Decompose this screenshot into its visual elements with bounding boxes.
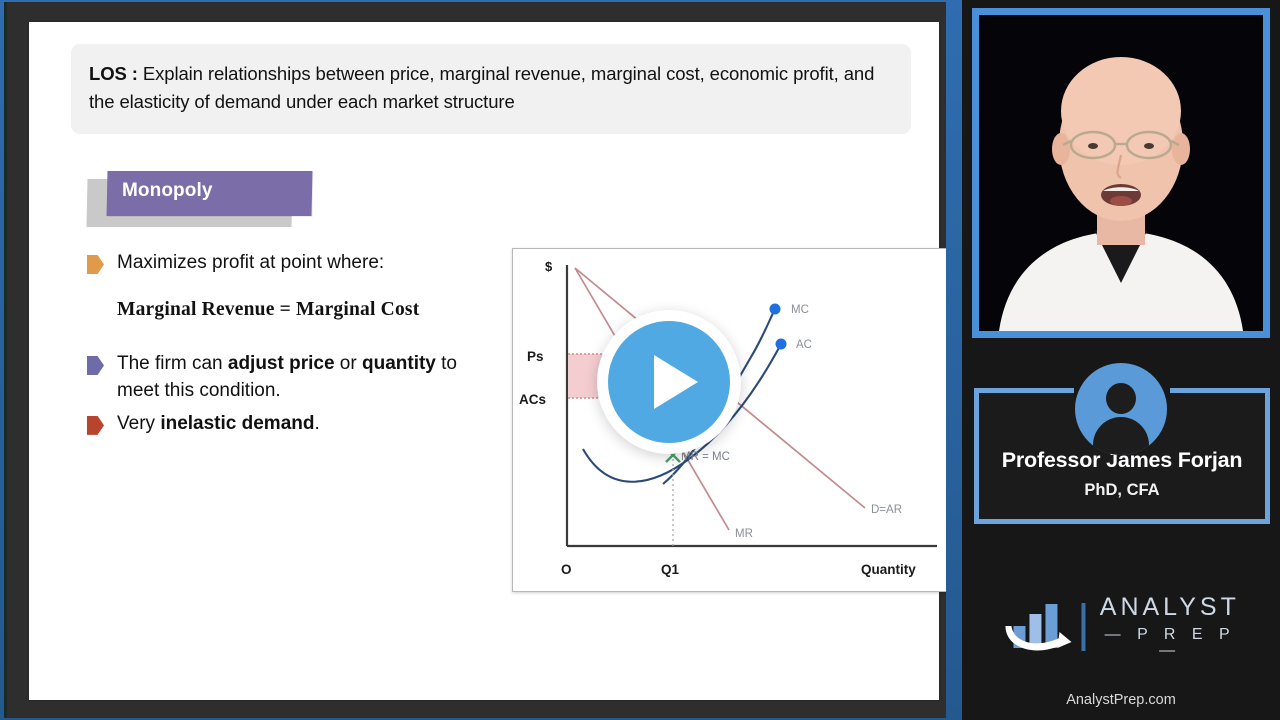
learning-objective-text: LOS : Explain relationships between pric… xyxy=(89,60,893,116)
los-prefix: LOS : xyxy=(89,63,138,84)
brand-website: AnalystPrep.com xyxy=(962,692,1280,708)
chart-label-demand: D=AR xyxy=(871,504,902,516)
avatar-body xyxy=(1093,417,1149,455)
logo-divider xyxy=(1081,603,1085,651)
section-title-banner: Monopoly xyxy=(87,169,317,231)
chart-label-ac: AC xyxy=(796,339,812,351)
slide-edge-accent xyxy=(946,0,962,720)
chart-label-mr-equals-mc: MR = MC xyxy=(681,451,730,463)
bullet-list: Maximizes profit at point where: Margina… xyxy=(87,250,487,438)
play-triangle-icon xyxy=(654,355,698,409)
monopoly-chart-svg: $ Ps ACs O Q1 Quantity MC AC D=AR MR MR … xyxy=(513,249,960,591)
equation-line: Marginal Revenue = Marginal Cost xyxy=(117,299,487,321)
mc-endpoint-dot-icon xyxy=(770,304,781,315)
chart-x-axis-label: Quantity xyxy=(861,562,916,577)
ac-endpoint-dot-icon xyxy=(776,339,787,350)
chart-ytick-acs: ACs xyxy=(519,392,546,407)
bullet3-tail: . xyxy=(314,413,319,434)
presenter-video-feed xyxy=(979,15,1263,331)
bullet-marker-orange-icon xyxy=(87,255,104,274)
presenter-video[interactable] xyxy=(972,8,1270,338)
chart-origin-label: O xyxy=(561,562,572,577)
chart-ytick-ps: Ps xyxy=(527,349,544,364)
presenter-rail: Professor James Forjan PhD, CFA xyxy=(962,0,1280,720)
logo-prep-text: — P R E P — xyxy=(1100,627,1241,659)
logo-wordmark: ANALYST — P R E P — xyxy=(1100,595,1241,659)
bullet-text-2: The firm can adjust price or quantity to… xyxy=(117,351,487,405)
bullet2-mid: or xyxy=(335,353,362,374)
avatar-head xyxy=(1106,383,1136,414)
bullet-marker-purple-icon xyxy=(87,356,104,375)
bullet-marker-red-icon xyxy=(87,416,104,435)
chart-y-axis-label: $ xyxy=(545,259,553,274)
slide-stage: LOS : Explain relationships between pric… xyxy=(0,0,962,720)
brand-logo: ANALYST — P R E P — xyxy=(962,595,1280,665)
bullet-item-2: The firm can adjust price or quantity to… xyxy=(87,351,487,405)
bullet3-lead: Very xyxy=(117,413,160,434)
slide-frame: LOS : Explain relationships between pric… xyxy=(4,2,948,718)
bullet-text-1: Maximizes profit at point where: xyxy=(117,250,384,277)
bar-chart-swoosh-icon xyxy=(1001,596,1075,658)
bullet-item-3: Very inelastic demand. xyxy=(87,411,487,438)
bullet2-bold-2: quantity xyxy=(362,353,436,374)
presenter-portrait xyxy=(979,15,1263,331)
slide-canvas: LOS : Explain relationships between pric… xyxy=(29,22,939,700)
chart-xtick-q1: Q1 xyxy=(661,562,680,577)
person-icon xyxy=(1075,363,1167,455)
play-button[interactable] xyxy=(597,310,741,454)
bullet3-bold-1: inelastic demand xyxy=(160,413,314,434)
section-title-label: Monopoly xyxy=(122,180,213,202)
bullet2-lead: The firm can xyxy=(117,353,228,374)
monopoly-chart: $ Ps ACs O Q1 Quantity MC AC D=AR MR MR … xyxy=(512,248,961,592)
bullet2-bold-1: adjust price xyxy=(228,353,335,374)
logo-analyst-text: ANALYST xyxy=(1100,595,1241,620)
bullet-item-1: Maximizes profit at point where: xyxy=(87,250,487,277)
learning-objective-box: LOS : Explain relationships between pric… xyxy=(71,44,911,134)
bullet-text-3: Very inelastic demand. xyxy=(117,411,320,438)
video-lesson-screen: LOS : Explain relationships between pric… xyxy=(0,0,1280,720)
chart-label-mc: MC xyxy=(791,304,809,316)
brand-logo-row: ANALYST — P R E P — xyxy=(1001,595,1240,659)
chart-label-mr: MR xyxy=(735,528,753,540)
presenter-credentials: PhD, CFA xyxy=(979,481,1265,500)
los-body: Explain relationships between price, mar… xyxy=(89,63,874,112)
play-button-disc xyxy=(608,321,730,443)
